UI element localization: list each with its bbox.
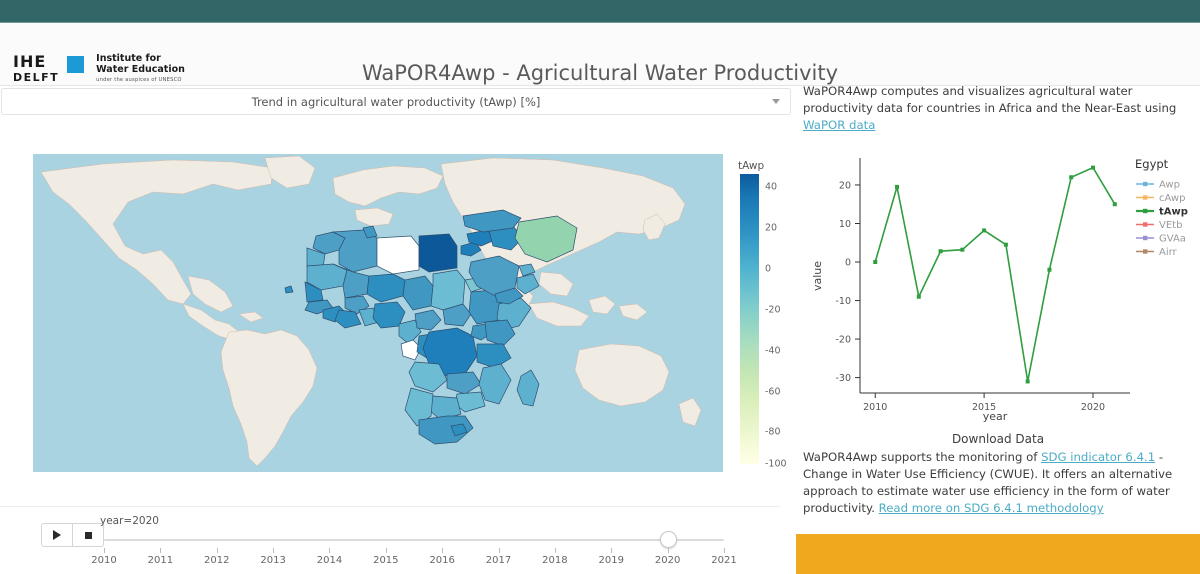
colorbar-tick: 0 <box>765 263 771 274</box>
legend-label-Awp[interactable]: Awp <box>1159 180 1180 191</box>
y-tick-label: 20 <box>839 180 851 191</box>
data-point[interactable] <box>1047 268 1051 272</box>
legend-marker-Awp[interactable] <box>1143 182 1147 186</box>
slider-tick-label[interactable]: 2011 <box>148 555 173 566</box>
colorbar-tick: -80 <box>765 427 781 438</box>
slider-track[interactable] <box>104 539 724 541</box>
slider-tick-label[interactable]: 2019 <box>599 555 624 566</box>
page-title: WaPOR4Awp - Agricultural Water Productiv… <box>0 61 1200 85</box>
slider-tick-label[interactable]: 2012 <box>204 555 229 566</box>
data-point[interactable] <box>895 185 899 189</box>
world-choropleth-map[interactable]: i <box>33 154 723 472</box>
data-point[interactable] <box>1026 379 1030 383</box>
sdg-methodology-link[interactable]: Read more on SDG 6.4.1 methodology <box>879 501 1104 515</box>
slider-tick-label[interactable]: 2016 <box>429 555 454 566</box>
slider-tick <box>724 548 725 553</box>
data-point[interactable] <box>873 260 877 264</box>
x-axis-title: year <box>983 410 1008 423</box>
variable-select-value: Trend in agricultural water productivity… <box>252 95 541 109</box>
app-header: IHE DELFT Institute for Water Education … <box>0 23 1200 86</box>
y-tick-label: -20 <box>835 335 851 346</box>
y-tick-labels: 20100-10-20-30 <box>835 180 851 384</box>
legend-title: Egypt <box>1135 157 1169 171</box>
chart-legend[interactable]: AwpcAwptAwpVEtbGVAaAirr <box>1136 180 1188 259</box>
year-slider-label: year=2020 <box>100 515 159 527</box>
colorbar-ticks: 40 20 0 -20 -40 -60 -80 -100 <box>762 174 802 464</box>
legend-marker-tAwp[interactable] <box>1143 209 1147 213</box>
colorbar-tick: -40 <box>765 345 781 356</box>
timeseries-line-chart[interactable]: 20100-10-20-30 201020152020 value year E… <box>805 148 1195 428</box>
slider-tick-label[interactable]: 2018 <box>542 555 567 566</box>
colorbar-gradient <box>740 174 759 464</box>
data-point[interactable] <box>960 248 964 252</box>
legend-marker-GVAa[interactable] <box>1143 236 1147 240</box>
slider-tick-label[interactable]: 2013 <box>260 555 285 566</box>
slider-tick <box>329 548 330 553</box>
slider-tick <box>499 548 500 553</box>
chevron-down-icon[interactable] <box>772 99 780 104</box>
slider-tick-label[interactable]: 2020 <box>655 555 680 566</box>
stop-icon <box>85 532 92 539</box>
intro-paragraph: WaPOR4Awp computes and visualizes agricu… <box>803 83 1193 134</box>
colorbar-tick: -60 <box>765 386 781 397</box>
x-tick-marks <box>875 393 1093 398</box>
legend-label-VEtb[interactable]: VEtb <box>1159 220 1182 231</box>
slider-tick <box>555 548 556 553</box>
play-button[interactable] <box>41 523 73 547</box>
slider-tick <box>668 548 669 553</box>
legend-label-Airr[interactable]: Airr <box>1159 247 1178 258</box>
data-point[interactable] <box>939 249 943 253</box>
colorbar-tick: 20 <box>765 222 777 233</box>
legend-label-cAwp[interactable]: cAwp <box>1159 193 1185 204</box>
slider-tick <box>104 548 105 553</box>
legend-marker-VEtb[interactable] <box>1143 222 1147 226</box>
series-points-tAwp[interactable] <box>873 166 1117 384</box>
bottom-orange-band <box>796 534 1200 574</box>
series-line-tAwp <box>875 168 1115 382</box>
legend-label-GVAa[interactable]: GVAa <box>1159 234 1186 245</box>
data-point[interactable] <box>917 295 921 299</box>
slider-tick-label[interactable]: 2014 <box>317 555 342 566</box>
sdg-text-1: WaPOR4Awp supports the monitoring of <box>803 450 1041 464</box>
colorbar-tick: -100 <box>765 459 787 470</box>
data-point[interactable] <box>1004 243 1008 247</box>
animation-player-controls <box>41 523 104 547</box>
top-banner <box>0 0 1200 22</box>
slider-tick <box>273 548 274 553</box>
data-point[interactable] <box>1091 166 1095 170</box>
data-point[interactable] <box>1069 175 1073 179</box>
slider-tick-label[interactable]: 2021 <box>711 555 736 566</box>
y-tick-label: 10 <box>839 219 851 230</box>
sdg-paragraph: WaPOR4Awp supports the monitoring of SDG… <box>803 449 1195 517</box>
download-data-label[interactable]: Download Data <box>803 432 1193 446</box>
colorbar-tick: 40 <box>765 182 777 193</box>
slider-tick <box>611 548 612 553</box>
y-axis-title: value <box>811 261 824 291</box>
play-icon <box>53 530 61 540</box>
legend-marker-cAwp[interactable] <box>1143 195 1147 199</box>
slider-tick <box>386 548 387 553</box>
slider-tick <box>160 548 161 553</box>
y-tick-label: -30 <box>835 373 851 384</box>
variable-select[interactable]: Trend in agricultural water productivity… <box>1 88 791 115</box>
x-tick-label: 2020 <box>1081 402 1105 413</box>
data-point[interactable] <box>982 228 986 232</box>
intro-text: WaPOR4Awp computes and visualizes agricu… <box>803 84 1176 115</box>
x-tick-label: 2010 <box>863 402 887 413</box>
year-slider[interactable] <box>104 537 724 543</box>
colorbar-tick: -20 <box>765 304 781 315</box>
legend-marker-Airr[interactable] <box>1143 249 1147 253</box>
year-slider-ticks: 2010201120122013201420152016201720182019… <box>104 548 724 570</box>
y-tick-label: -10 <box>835 296 851 307</box>
colorbar-title: tAwp <box>738 160 764 172</box>
slider-thumb[interactable] <box>660 531 677 548</box>
map-svg <box>33 154 723 472</box>
data-point[interactable] <box>1113 202 1117 206</box>
slider-tick-label[interactable]: 2015 <box>373 555 398 566</box>
slider-tick <box>442 548 443 553</box>
slider-tick-label[interactable]: 2010 <box>91 555 116 566</box>
sdg-indicator-link[interactable]: SDG indicator 6.4.1 <box>1041 450 1155 464</box>
slider-tick <box>217 548 218 553</box>
wapor-data-link[interactable]: WaPOR data <box>803 118 875 132</box>
line-chart-svg: 20100-10-20-30 201020152020 value year E… <box>805 148 1195 428</box>
bottom-divider <box>0 506 780 507</box>
legend-label-tAwp[interactable]: tAwp <box>1159 207 1188 218</box>
y-tick-marks <box>855 185 860 378</box>
slider-tick-label[interactable]: 2017 <box>486 555 511 566</box>
y-tick-label: 0 <box>845 258 851 269</box>
